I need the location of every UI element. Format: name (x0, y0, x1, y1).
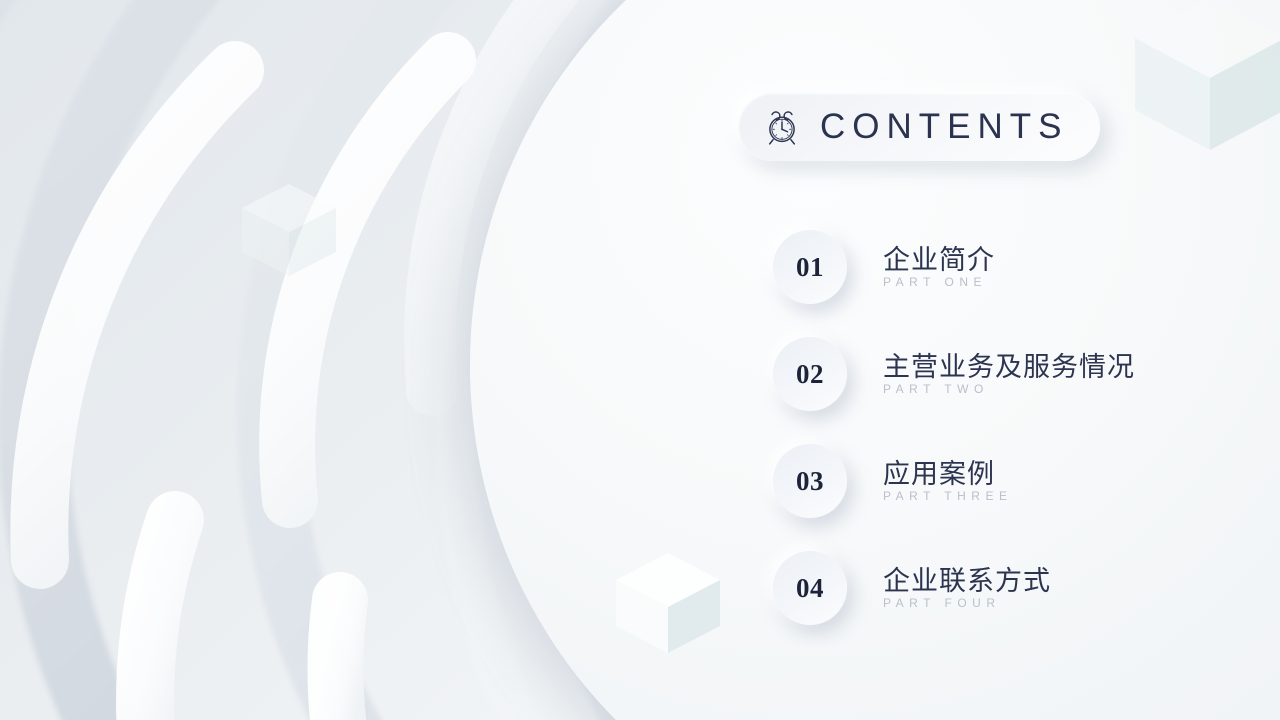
agenda-number-badge-02: 02 (773, 337, 847, 411)
agenda-number-02: 02 (796, 361, 824, 388)
agenda-text-01: 企业简介 PART ONE (883, 245, 995, 289)
contents-header-pill: CONTENTS (738, 93, 1100, 161)
agenda-title-03: 应用案例 (883, 459, 1012, 489)
contents-title: CONTENTS (820, 109, 1069, 146)
agenda-number-04: 04 (796, 575, 824, 602)
agenda-number-badge-03: 03 (773, 444, 847, 518)
agenda-subtitle-01: PART ONE (883, 276, 995, 289)
agenda-number-03: 03 (796, 468, 824, 495)
agenda-item-01[interactable]: 01 企业简介 PART ONE (773, 230, 1213, 304)
agenda-list: 01 企业简介 PART ONE 02 主营业务及服务情况 PART TWO 0… (773, 230, 1213, 625)
alarm-clock-icon (760, 105, 804, 149)
agenda-number-badge-01: 01 (773, 230, 847, 304)
agenda-title-02: 主营业务及服务情况 (883, 352, 1135, 382)
agenda-text-04: 企业联系方式 PART FOUR (883, 566, 1051, 610)
agenda-number-badge-04: 04 (773, 551, 847, 625)
agenda-text-02: 主营业务及服务情况 PART TWO (883, 352, 1135, 396)
agenda-subtitle-02: PART TWO (883, 383, 1135, 396)
agenda-subtitle-04: PART FOUR (883, 597, 1051, 610)
agenda-title-04: 企业联系方式 (883, 566, 1051, 596)
agenda-text-03: 应用案例 PART THREE (883, 459, 1012, 503)
agenda-item-02[interactable]: 02 主营业务及服务情况 PART TWO (773, 337, 1213, 411)
slide-canvas: CONTENTS 01 企业简介 PART ONE 02 主营业务及服务情况 P… (0, 0, 1280, 720)
agenda-subtitle-03: PART THREE (883, 490, 1012, 503)
agenda-number-01: 01 (796, 254, 824, 281)
agenda-item-03[interactable]: 03 应用案例 PART THREE (773, 444, 1213, 518)
agenda-item-04[interactable]: 04 企业联系方式 PART FOUR (773, 551, 1213, 625)
agenda-title-01: 企业简介 (883, 245, 995, 275)
